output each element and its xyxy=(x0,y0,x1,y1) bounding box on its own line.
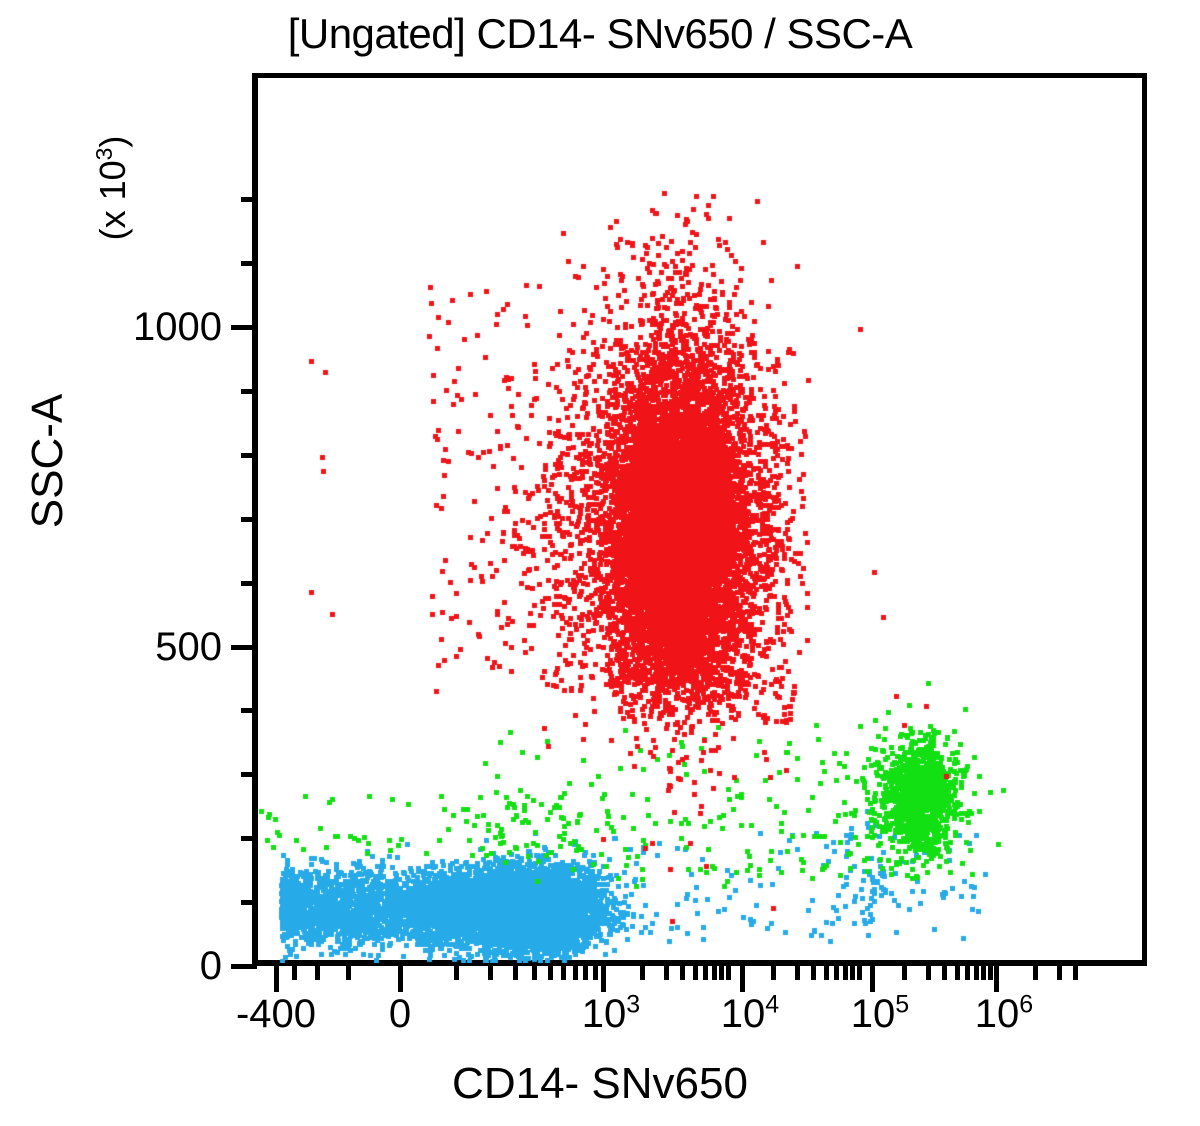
x-axis-major-tick xyxy=(994,966,999,992)
x-axis-minor-tick xyxy=(726,966,731,980)
x-axis-minor-tick xyxy=(513,966,518,980)
x-axis-minor-tick xyxy=(1057,966,1062,980)
y-axis-minor-tick xyxy=(241,772,256,777)
x-axis-minor-tick xyxy=(965,966,970,980)
page-title: [Ungated] CD14- SNv650 / SSC-A xyxy=(0,8,1200,60)
x-axis-minor-tick xyxy=(1073,966,1078,980)
x-axis-major-tick xyxy=(398,966,403,992)
y-axis-minor-tick xyxy=(241,708,256,713)
y-multiplier-exponent: 3 xyxy=(91,148,117,161)
x-axis-tick-label: 106 xyxy=(975,992,1033,1036)
x-axis-minor-tick xyxy=(926,966,931,980)
y-axis-minor-tick xyxy=(241,389,256,394)
x-axis-minor-tick xyxy=(488,966,493,980)
x-axis-tick-label: 104 xyxy=(721,992,779,1036)
x-axis-minor-tick xyxy=(955,966,960,980)
x-axis-minor-tick xyxy=(703,966,708,980)
y-axis-minor-tick xyxy=(241,261,256,266)
x-axis-minor-tick xyxy=(292,966,297,980)
x-axis-title: CD14- SNv650 xyxy=(0,1058,1200,1110)
x-tick-exponent: 3 xyxy=(626,991,640,1019)
x-axis-minor-tick xyxy=(988,966,993,980)
x-axis-major-tick xyxy=(740,966,745,992)
x-axis-minor-tick xyxy=(664,966,669,980)
x-axis-minor-tick xyxy=(548,966,553,980)
y-axis-minor-tick xyxy=(241,197,256,202)
x-axis-minor-tick xyxy=(902,966,907,980)
x-axis-minor-tick xyxy=(719,966,724,980)
x-axis-major-tick xyxy=(870,966,875,992)
y-axis-minor-tick xyxy=(241,517,256,522)
y-axis-tick-label: 1000 xyxy=(133,305,222,349)
x-axis-minor-tick xyxy=(795,966,800,980)
scatter-canvas-container xyxy=(258,73,1147,963)
y-axis-major-tick xyxy=(231,964,257,969)
y-axis-minor-tick xyxy=(241,900,256,905)
x-axis-minor-tick xyxy=(824,966,829,980)
x-axis-tick-label: -400 xyxy=(236,992,316,1036)
y-axis-multiplier-label: (x 103) xyxy=(93,98,133,278)
x-axis-minor-tick xyxy=(974,966,979,980)
x-axis-minor-tick xyxy=(454,966,459,980)
x-axis-minor-tick xyxy=(843,966,848,980)
x-axis-minor-tick xyxy=(857,966,862,980)
flow-cytometry-plot: [Ungated] CD14- SNv650 / SSC-A -40001031… xyxy=(0,0,1200,1126)
x-axis-minor-tick xyxy=(561,966,566,980)
x-axis-tick-label: 105 xyxy=(851,992,909,1036)
y-axis-tick-label: 0 xyxy=(200,944,222,988)
y-axis-title: SSC-A xyxy=(22,321,74,601)
y-axis-tick-label: 500 xyxy=(155,625,222,669)
x-axis-minor-tick xyxy=(680,966,685,980)
y-axis-minor-tick xyxy=(241,453,256,458)
x-tick-exponent: 5 xyxy=(895,991,909,1019)
x-axis-minor-tick xyxy=(593,966,598,980)
y-axis-minor-tick xyxy=(241,581,256,586)
y-axis-major-tick xyxy=(231,325,257,330)
scatter-points-canvas xyxy=(258,73,1147,963)
x-axis-major-tick xyxy=(601,966,606,992)
x-axis-minor-tick xyxy=(981,966,986,980)
x-axis-minor-tick xyxy=(1033,966,1038,980)
x-axis-minor-tick xyxy=(346,966,351,980)
y-axis-minor-tick xyxy=(241,836,256,841)
x-tick-exponent: 6 xyxy=(1019,991,1033,1019)
x-axis-minor-tick xyxy=(834,966,839,980)
x-axis-minor-tick xyxy=(532,966,537,980)
x-axis-tick-label: 103 xyxy=(582,992,640,1036)
x-axis-minor-tick xyxy=(693,966,698,980)
x-axis-minor-tick xyxy=(315,966,320,980)
x-axis-minor-tick xyxy=(850,966,855,980)
x-axis-minor-tick xyxy=(811,966,816,980)
x-axis-minor-tick xyxy=(640,966,645,980)
y-axis-major-tick xyxy=(231,645,257,650)
x-axis-minor-tick xyxy=(771,966,776,980)
x-tick-exponent: 4 xyxy=(765,991,779,1019)
x-axis-tick-label: 0 xyxy=(389,992,411,1036)
x-axis-minor-tick xyxy=(712,966,717,980)
x-axis-major-tick xyxy=(274,966,279,992)
x-axis-minor-tick xyxy=(573,966,578,980)
x-axis-minor-tick xyxy=(942,966,947,980)
x-axis-minor-tick xyxy=(583,966,588,980)
